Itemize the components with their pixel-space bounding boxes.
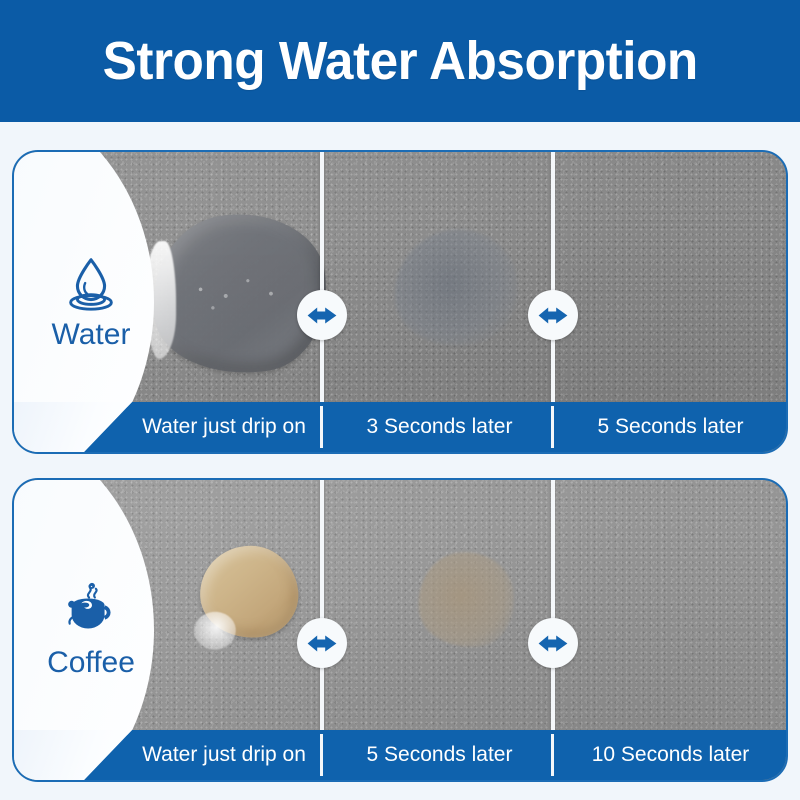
arrow-badge-water-1 xyxy=(297,290,347,340)
page-title: Strong Water Absorption xyxy=(102,34,697,88)
arrow-right-icon xyxy=(306,633,338,654)
caption-water-step-1: Water just drip on xyxy=(124,402,324,452)
arrow-badge-coffee-2 xyxy=(528,618,578,668)
coffee-cup-icon xyxy=(60,582,122,644)
water-drop-icon xyxy=(60,254,122,316)
category-badge-coffee: Coffee xyxy=(28,582,154,678)
arrow-badge-water-2 xyxy=(528,290,578,340)
caption-coffee-step-2: 5 Seconds later xyxy=(324,730,555,780)
caption-water-step-3: 5 Seconds later xyxy=(555,402,786,452)
caption-coffee-step-3: 10 Seconds later xyxy=(555,730,786,780)
caption-bar-water: Water just drip on 3 Seconds later 5 Sec… xyxy=(14,402,786,452)
category-label-water: Water xyxy=(52,320,131,350)
caption-water-step-2: 3 Seconds later xyxy=(324,402,555,452)
arrow-right-icon xyxy=(537,633,569,654)
arrow-right-icon xyxy=(537,305,569,326)
category-label-coffee: Coffee xyxy=(47,648,135,678)
demo-panel-coffee: Coffee Water just drip on 5 Seconds late… xyxy=(12,478,788,782)
header-banner: Strong Water Absorption xyxy=(0,0,800,122)
arrow-badge-coffee-1 xyxy=(297,618,347,668)
caption-bar-coffee: Water just drip on 5 Seconds later 10 Se… xyxy=(14,730,786,780)
demo-panel-water: Water Water just drip on 3 Seconds later… xyxy=(12,150,788,454)
caption-coffee-step-1: Water just drip on xyxy=(124,730,324,780)
category-badge-water: Water xyxy=(28,254,154,350)
arrow-right-icon xyxy=(306,305,338,326)
